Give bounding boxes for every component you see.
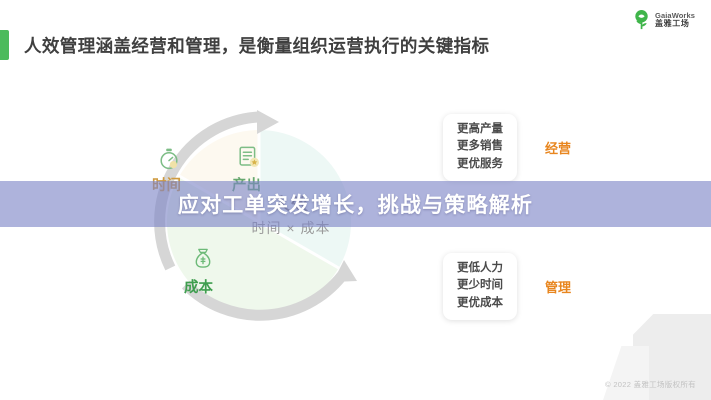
header-accent-bar [0, 30, 9, 60]
slide-canvas: GaiaWorks 盖雅工场 人效管理涵盖经营和管理，是衡量组织运营执行的关键指… [0, 0, 711, 400]
callout-line: 更多销售 [457, 138, 503, 155]
brand-name-cn: 盖雅工场 [655, 20, 695, 28]
callout-line: 更高产量 [457, 121, 503, 138]
brand-logo: GaiaWorks 盖雅工场 [633, 10, 695, 30]
money-bag-icon [192, 248, 214, 275]
overlay-banner: 应对工单突发增长，挑战与策略解析 [0, 181, 711, 227]
sector-label-cost: 成本 [184, 276, 213, 297]
callout-tag-operations: 经营 [545, 138, 571, 157]
callout-line: 更优成本 [457, 295, 503, 312]
callout-management: 更低人力 更少时间 更优成本 管理 [443, 253, 571, 320]
callout-tag-management: 管理 [545, 277, 571, 296]
copyright-footer: © 2022 盖雅工场版权所有 [605, 379, 696, 390]
callout-management-box: 更低人力 更少时间 更优成本 [443, 253, 517, 320]
brand-text: GaiaWorks 盖雅工场 [655, 12, 695, 28]
decorative-polygon-small [603, 346, 649, 400]
callout-line: 更优服务 [457, 156, 503, 173]
document-report-icon [238, 146, 260, 173]
callout-operations-box: 更高产量 更多销售 更优服务 [443, 114, 517, 181]
overlay-banner-title: 应对工单突发增长，挑战与策略解析 [178, 189, 533, 219]
page-title: 人效管理涵盖经营和管理，是衡量组织运营执行的关键指标 [24, 33, 489, 58]
callout-operations: 更高产量 更多销售 更优服务 经营 [443, 114, 571, 181]
callout-line: 更低人力 [457, 260, 503, 277]
green-tree-logo-icon [633, 10, 650, 30]
page-header: 人效管理涵盖经营和管理，是衡量组织运营执行的关键指标 [0, 30, 489, 60]
stopwatch-icon [159, 148, 179, 175]
callout-line: 更少时间 [457, 277, 503, 294]
